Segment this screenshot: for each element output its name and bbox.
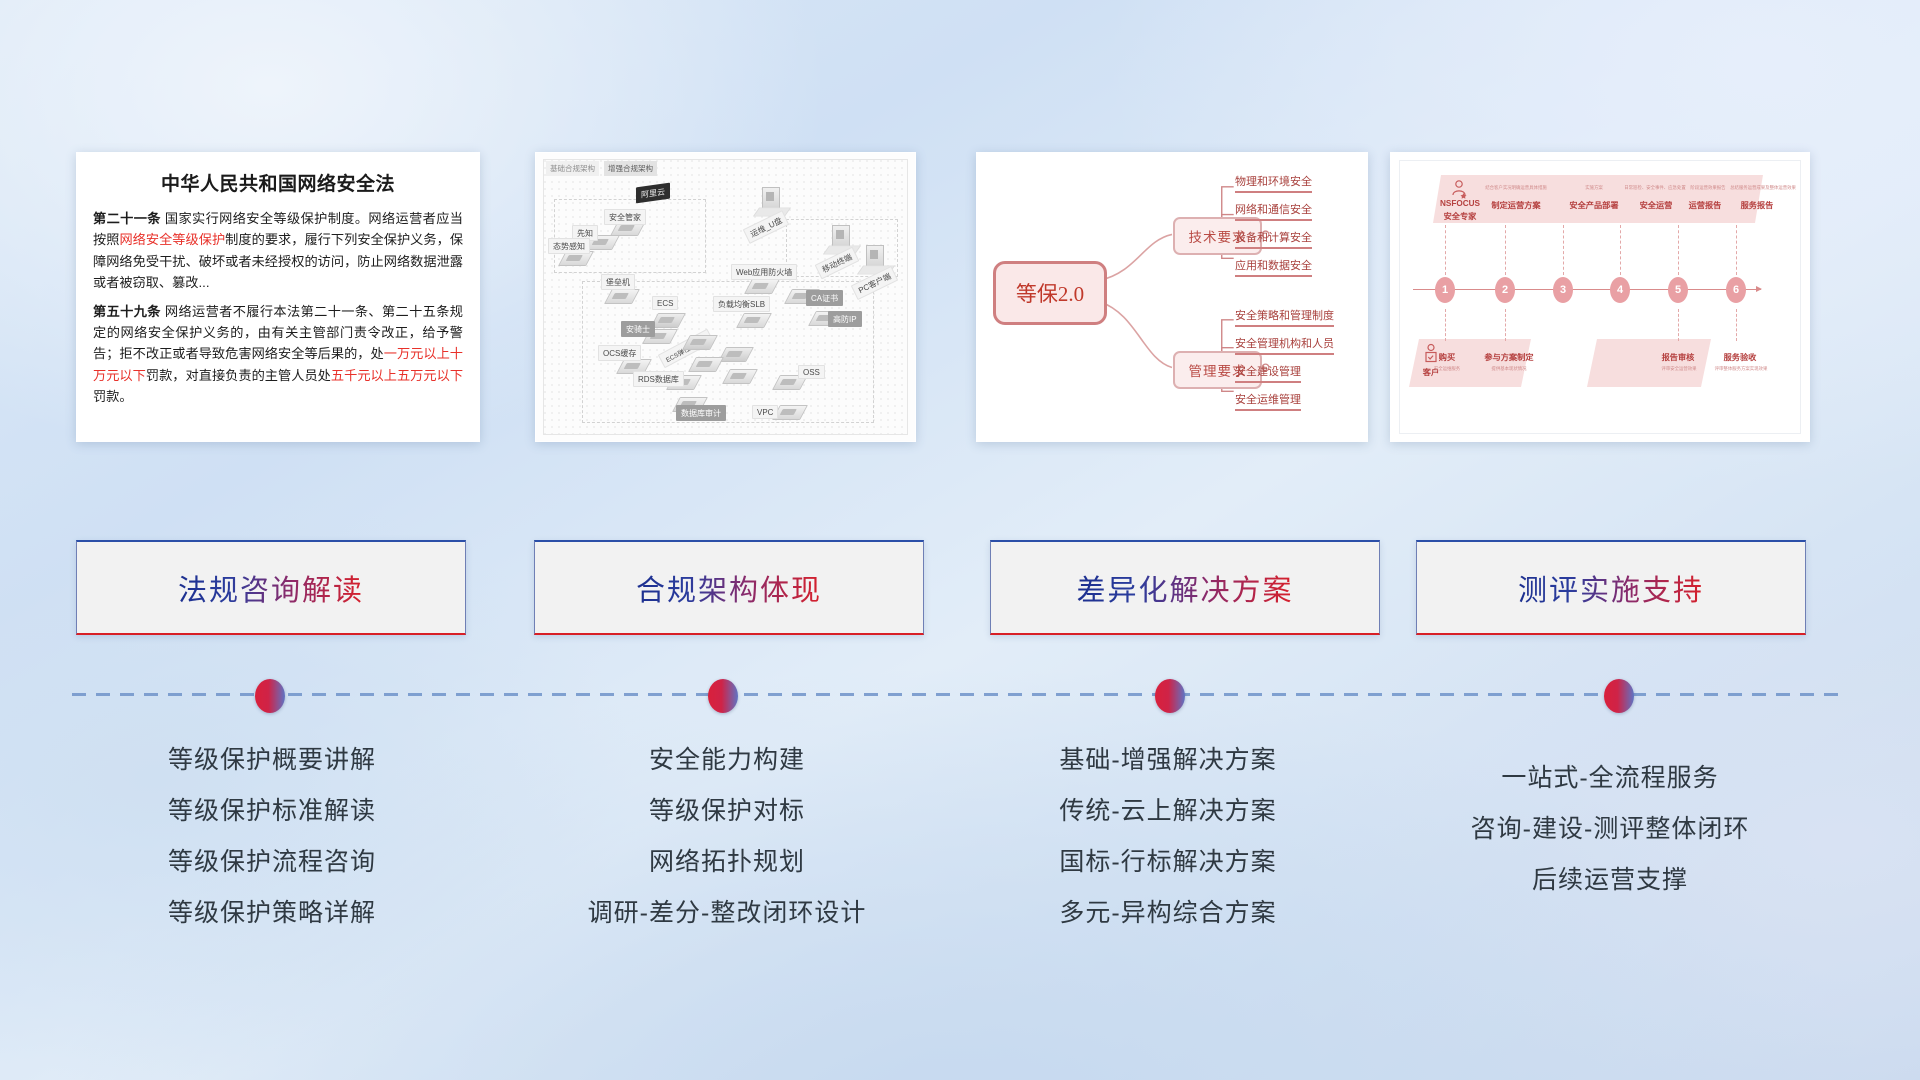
chip-oss: OSS [798, 365, 825, 379]
section-titles-row: 法规咨询解读 合规架构体现 差异化解决方案 测评实施支持 [0, 540, 1920, 640]
icon-node-slb [740, 309, 768, 329]
step1-bottom-label: 购买 [1427, 351, 1467, 363]
step2-bottom-label: 参与方案制定 [1475, 351, 1543, 363]
step6-bottom-sub: 评审整体服务方案实现效果 [1701, 366, 1781, 372]
step6-connector [1736, 225, 1737, 275]
chip-security-butler: 安全管家 [604, 209, 646, 225]
list-item: 调研-差分-整改闭环设计 [512, 888, 942, 939]
step1-connector [1445, 225, 1446, 275]
label-security-expert: 安全专家 [1433, 210, 1487, 222]
law-article-59-label: 第五十九条 [93, 304, 161, 319]
list-item: 国标-行标解决方案 [953, 837, 1383, 888]
mindmap-root-node: 等保2.0 [993, 261, 1107, 325]
step6-bottom-connector [1736, 309, 1737, 341]
chip-vpc: VPC [752, 405, 778, 419]
step3-connector [1563, 225, 1564, 275]
mindmap-leaf-policy-system: 安全策略和管理制度 [1235, 307, 1334, 327]
section-items-3: 基础-增强解决方案 传统-云上解决方案 国标-行标解决方案 多元-异构综合方案 [953, 735, 1383, 939]
section-title-box-1[interactable]: 法规咨询解读 [76, 540, 466, 635]
list-item: 安全能力构建 [512, 735, 942, 786]
nsfocus-diagram: NSFOCUS 安全专家 客户 结合客户实况明确运营具体措施 制定运营方案 实施… [1391, 153, 1809, 441]
section-title-box-4[interactable]: 测评实施支持 [1416, 540, 1806, 635]
step2-connector [1505, 225, 1506, 275]
timeline-dashed-line [72, 693, 1848, 696]
mindmap-leaf-org-personnel: 安全管理机构和人员 [1235, 335, 1334, 355]
mindmap-leaf-network-comm: 网络和通信安全 [1235, 201, 1312, 221]
chip-bastion-host: 堡垒机 [601, 274, 635, 290]
timeline-step-4[interactable]: 4 [1610, 277, 1630, 303]
law-article-21-highlight: 网络安全等级保护 [119, 232, 225, 247]
timeline-step-5[interactable]: 5 [1668, 277, 1688, 303]
icon-node-ecs-d [692, 353, 720, 373]
screenshot-cards-row: 中华人民共和国网络安全法 第二十一条 国家实行网络安全等级保护制度。网络运营者应… [0, 0, 1920, 470]
list-item: 网络拓扑规划 [512, 837, 942, 888]
chip-waf: Web应用防火墙 [731, 264, 797, 280]
tab-basic-architecture[interactable]: 基础合规架构 [546, 161, 599, 176]
chip-anqishi: 安骑士 [621, 321, 655, 337]
list-item: 等级保护对标 [512, 786, 942, 837]
list-item: 等级保护概要讲解 [57, 735, 487, 786]
step2-bottom-sub: 提供基本现状情况 [1473, 366, 1545, 372]
architecture-tabs[interactable]: 基础合规架构 增强合规架构 [546, 161, 657, 176]
section-title-3: 差异化解决方案 [1076, 567, 1293, 609]
section-title-box-3[interactable]: 差异化解决方案 [990, 540, 1380, 635]
list-item: 多元-异构综合方案 [953, 888, 1383, 939]
step6-top-sub: 总结服务运营成果及整体运营效果 [1709, 185, 1810, 191]
list-item: 等级保护策略详解 [57, 888, 487, 939]
chip-slb: 负载均衡SLB [713, 296, 770, 312]
law-article-21: 第二十一条 国家实行网络安全等级保护制度。网络运营者应当按照网络安全等级保护制度… [93, 208, 463, 294]
chip-anti-ddos-ip: 高防IP [828, 311, 862, 327]
timeline-marker-4[interactable] [1604, 679, 1634, 713]
step4-connector [1620, 225, 1621, 275]
tab-enhanced-architecture[interactable]: 增强合规架构 [604, 161, 657, 176]
card-dengbao-mindmap[interactable]: 等保2.0 技术要求 物理和环境安全 网络和通信安全 设备和计算安全 应用和数据… [976, 152, 1368, 442]
mindmap-leaf-construction-mgmt: 安全建设管理 [1235, 363, 1301, 383]
law-article-59: 第五十九条 网络运营者不履行本法第二十一条、第二十五条规定的网络安全保护义务的，… [93, 301, 463, 408]
list-item: 后续运营支撑 [1395, 855, 1825, 906]
law-article-21-label: 第二十一条 [93, 211, 161, 226]
timeline-marker-3[interactable] [1155, 679, 1185, 713]
section-title-4: 测评实施支持 [1518, 567, 1704, 609]
section-title-2: 合规架构体现 [636, 567, 822, 609]
law-article-59-text-b: 罚款，对直接负责的主管人员处 [146, 368, 331, 383]
law-document: 中华人民共和国网络安全法 第二十一条 国家实行网络安全等级保护制度。网络运营者应… [77, 153, 479, 441]
step2-top-sub: 结合客户实况明确运营具体措施 [1467, 185, 1565, 191]
step5-bottom-label: 报告审核 [1649, 351, 1707, 363]
timeline-axis [1413, 289, 1761, 290]
section-items-2: 安全能力构建 等级保护对标 网络拓扑规划 调研-差分-整改闭环设计 [512, 735, 942, 939]
timeline-step-3[interactable]: 3 [1553, 277, 1573, 303]
section-title-box-2[interactable]: 合规架构体现 [534, 540, 924, 635]
icon-node-ecs-c [722, 343, 750, 363]
mindmap-diagram: 等保2.0 技术要求 物理和环境安全 网络和通信安全 设备和计算安全 应用和数据… [977, 153, 1367, 441]
chip-ca-cert: CA证书 [806, 290, 843, 306]
list-item: 等级保护流程咨询 [57, 837, 487, 888]
architecture-diagram: 基础合规架构 增强合规架构 阿里云 安全管家 先知 态势感知 堡垒机 [536, 153, 915, 441]
section-title-1: 法规咨询解读 [178, 567, 364, 609]
section-items-row: 等级保护概要讲解 等级保护标准解读 等级保护流程咨询 等级保护策略详解 安全能力… [0, 735, 1920, 975]
chip-ocs-cache: OCS缓存 [598, 345, 641, 361]
list-item: 传统-云上解决方案 [953, 786, 1383, 837]
chip-db-audit: 数据库审计 [676, 405, 726, 421]
law-title: 中华人民共和国网络安全法 [93, 169, 463, 196]
icon-node-ecs-e [726, 365, 754, 385]
list-item: 咨询-建设-测评整体闭环 [1395, 804, 1825, 855]
timeline-marker-1[interactable] [255, 679, 285, 713]
slide-root: 中华人民共和国网络安全法 第二十一条 国家实行网络安全等级保护制度。网络运营者应… [0, 0, 1920, 1080]
icon-node-vpc [776, 401, 804, 421]
list-item: 等级保护标准解读 [57, 786, 487, 837]
icon-node-ecs-b [686, 331, 714, 351]
step5-bottom-connector [1678, 309, 1679, 341]
section-items-4: 一站式-全流程服务 咨询-建设-测评整体闭环 后续运营支撑 [1395, 753, 1825, 906]
step1-bottom-sub: 安全运维服务 [1421, 366, 1473, 372]
mindmap-leaf-device-compute: 设备和计算安全 [1235, 229, 1312, 249]
chip-ecs: ECS [652, 296, 678, 310]
timeline-step-2[interactable]: 2 [1495, 277, 1515, 303]
timeline-step-1[interactable]: 1 [1435, 277, 1455, 303]
card-cloud-architecture[interactable]: 基础合规架构 增强合规架构 阿里云 安全管家 先知 态势感知 堡垒机 [535, 152, 916, 442]
band-customer-right [1587, 339, 1711, 387]
card-nsfocus-service-timeline[interactable]: NSFOCUS 安全专家 客户 结合客户实况明确运营具体措施 制定运营方案 实施… [1390, 152, 1810, 442]
mindmap-leaf-physical-env: 物理和环境安全 [1235, 173, 1312, 193]
list-item: 一站式-全流程服务 [1395, 753, 1825, 804]
expert-avatar-icon [1449, 179, 1469, 199]
step2-bottom-connector [1505, 309, 1506, 341]
step1-bottom-connector [1445, 309, 1446, 341]
section-items-1: 等级保护概要讲解 等级保护标准解读 等级保护流程咨询 等级保护策略详解 [57, 735, 487, 939]
list-item: 基础-增强解决方案 [953, 735, 1383, 786]
timeline-marker-2[interactable] [708, 679, 738, 713]
mindmap-leaf-operation-mgmt: 安全运维管理 [1235, 391, 1301, 411]
chip-situation-awareness: 态势感知 [548, 238, 590, 254]
law-article-59-text-c: 罚款。 [93, 389, 133, 404]
card-cybersecurity-law[interactable]: 中华人民共和国网络安全法 第二十一条 国家实行网络安全等级保护制度。网络运营者应… [76, 152, 480, 442]
chip-rds: RDS数据库 [633, 371, 684, 387]
step6-top-label: 服务报告 [1717, 199, 1797, 211]
law-penalty-range-2: 五千元以上五万元以下 [331, 368, 463, 383]
step5-connector [1678, 225, 1679, 275]
step6-bottom-label: 服务验收 [1711, 351, 1769, 363]
timeline-step-6[interactable]: 6 [1726, 277, 1746, 303]
mindmap-leaf-app-data: 应用和数据安全 [1235, 257, 1312, 277]
